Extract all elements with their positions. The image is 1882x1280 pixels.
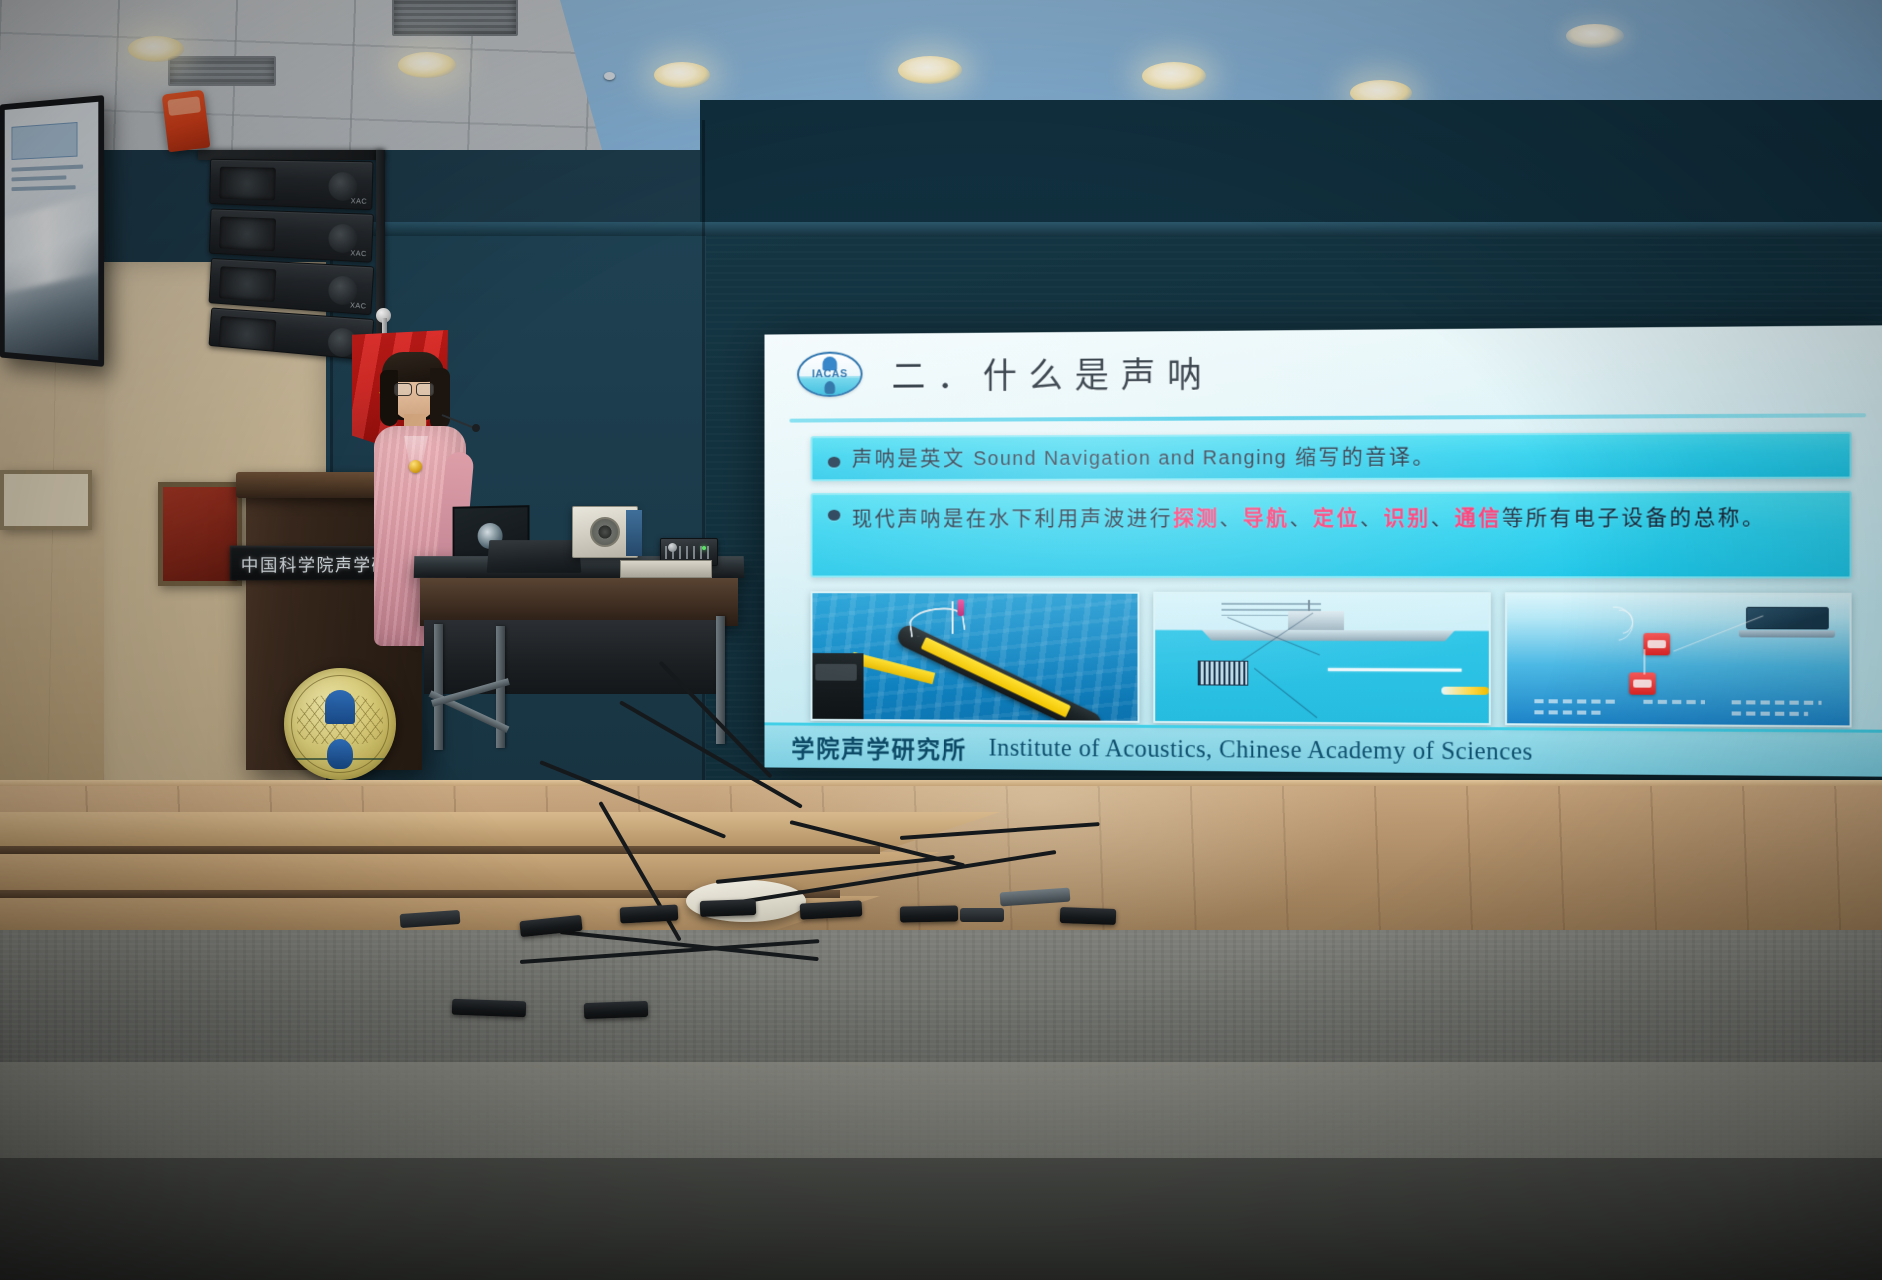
equipment-table-surface — [420, 578, 738, 626]
cable-floor-tape — [584, 1001, 649, 1019]
text-segment: 、 — [1220, 506, 1243, 530]
ceiling-downlight — [398, 52, 456, 78]
deck-equipment — [812, 653, 863, 719]
diagram-caption-bar — [1732, 711, 1808, 716]
presenter-hair-right — [430, 368, 450, 430]
ceiling-downlight — [898, 56, 962, 84]
iacas-logo-icon: IACAS — [797, 351, 862, 397]
side-display-monitor — [0, 95, 104, 367]
speaker-brand-label: XAC — [350, 302, 367, 310]
cable-floor-tape — [1060, 907, 1117, 925]
seal-figure-icon — [327, 739, 353, 769]
text-segment: 等所有电子设备的总称。 — [1502, 505, 1766, 530]
presenter-badge — [409, 460, 422, 473]
side-monitor-chart — [12, 122, 78, 160]
lecture-hall-photo: XAC XAC XAC IACAS — [0, 0, 1882, 1280]
diver-icon — [824, 381, 835, 394]
open-laptop-keyboard — [487, 540, 582, 573]
carpet-band — [0, 1062, 1882, 1158]
instrument-knob — [668, 543, 677, 552]
equipment-side-panel — [626, 510, 642, 556]
diagram-caption-bar — [1534, 699, 1616, 703]
carpet-foreground — [0, 1158, 1882, 1280]
text-segment: 识别 — [1384, 506, 1431, 530]
speaker-cabinet: XAC — [209, 258, 375, 315]
acoustic-wave-icon — [1592, 599, 1640, 647]
underwater-acoustic-communication-diagram — [1505, 592, 1852, 727]
cable-floor-tape — [452, 999, 527, 1018]
speaker-cabinet — [209, 307, 375, 360]
ship-hull — [1201, 629, 1455, 641]
ceiling-downlight — [1566, 24, 1624, 48]
bullet-1-text: 声呐是英文 Sound Navigation and Ranging 缩写的音译… — [852, 440, 1436, 475]
bullet-dot-icon — [828, 510, 841, 521]
wall-trim-strip — [330, 222, 1882, 236]
speaker-cabinet: XAC — [209, 159, 373, 210]
marker-buoy — [958, 600, 965, 617]
slide-picture-row — [811, 591, 1852, 727]
text-segment: Sound Navigation and Ranging — [973, 447, 1287, 470]
footer-institute-cn: 学院声学研究所 — [791, 729, 967, 765]
wall-notice-frame — [0, 470, 92, 530]
speaker-cabinet: XAC — [209, 208, 374, 262]
surface-modem-icon — [1643, 633, 1670, 655]
cable-floor-tape — [700, 899, 757, 917]
microphone-icon — [472, 424, 480, 432]
line-array-speakers: XAC XAC XAC — [204, 160, 372, 357]
projection-screen: IACAS 二．什么是声呐 声呐是英文 Sound Navigation and… — [764, 325, 1882, 776]
text-segment: 现代声呐是在水下利用声波进行 — [852, 506, 1173, 530]
presenter-hair-left — [380, 370, 398, 426]
presenter-glasses — [394, 383, 434, 394]
title-divider — [789, 413, 1866, 422]
speaker-brand-label: XAC — [350, 250, 367, 258]
text-segment: 声呐是英文 — [852, 446, 973, 470]
bullet-dot-icon — [828, 457, 841, 468]
link-line — [1643, 649, 1645, 675]
subsea-modem-icon — [1629, 672, 1656, 694]
text-segment: 通信 — [1454, 506, 1501, 530]
floor-connector-block — [960, 908, 1004, 922]
diagram-caption-bar — [1643, 699, 1705, 703]
speaker-brand-label: XAC — [351, 198, 368, 206]
ceiling-downlight — [128, 36, 184, 62]
ceiling-downlight — [1142, 62, 1206, 90]
text-segment: 缩写的音译。 — [1287, 444, 1436, 469]
text-segment: 、 — [1431, 506, 1455, 530]
ceiling-downlight — [654, 62, 710, 88]
presentation-slide: IACAS 二．什么是声呐 声呐是英文 Sound Navigation and… — [764, 325, 1882, 776]
seal-bell-icon — [325, 690, 355, 724]
text-segment: 定位 — [1313, 506, 1360, 530]
wall-seam — [702, 120, 705, 870]
smoke-detector — [604, 72, 615, 80]
cable-floor-tape — [800, 900, 863, 919]
status-led — [702, 546, 706, 550]
diagram-caption-bar — [1732, 700, 1822, 705]
text-segment: 、 — [1290, 506, 1313, 530]
text-segment: 探测 — [1173, 506, 1220, 530]
fan-icon — [590, 517, 620, 547]
equipment-tray — [620, 560, 712, 578]
towed-body — [1442, 687, 1489, 695]
hull-mounted-sonar-array — [1198, 660, 1248, 686]
naval-ship-sonar-diagram — [1153, 592, 1491, 725]
laptop-icon — [1746, 606, 1829, 637]
step-riser — [0, 846, 880, 854]
text-segment: 导航 — [1243, 506, 1290, 530]
table-leg — [434, 624, 443, 750]
slide-title: 二．什么是声呐 — [892, 346, 1214, 399]
emergency-light — [162, 90, 211, 153]
text-segment: 、 — [1360, 506, 1384, 530]
cable-floor-tape — [620, 904, 679, 923]
slide-footer: 学院声学研究所 Institute of Acoustics, Chinese … — [764, 722, 1882, 776]
footer-institute-en: Institute of Acoustics, Chinese Academy … — [989, 734, 1533, 766]
diagram-caption-bar — [1534, 710, 1602, 714]
towed-auv-sonar-photo — [811, 591, 1140, 723]
diagram-leader-line — [1254, 668, 1318, 718]
ship-superstructure — [1288, 611, 1345, 632]
laptop-base — [1739, 631, 1835, 638]
cable-floor-tape — [900, 905, 958, 922]
tow-rig — [951, 601, 953, 634]
slide-header: IACAS 二．什么是声呐 — [764, 325, 1882, 415]
slide-bullet-2: 现代声呐是在水下利用声波进行探测、导航、定位、识别、通信等所有电子设备的总称。 — [811, 491, 1852, 579]
bullet-2-text: 现代声呐是在水下利用声波进行探测、导航、定位、识别、通信等所有电子设备的总称。 — [852, 501, 1766, 535]
slide-bullet-1: 声呐是英文 Sound Navigation and Ranging 缩写的音译… — [811, 432, 1852, 482]
towed-array-line — [1328, 668, 1462, 672]
